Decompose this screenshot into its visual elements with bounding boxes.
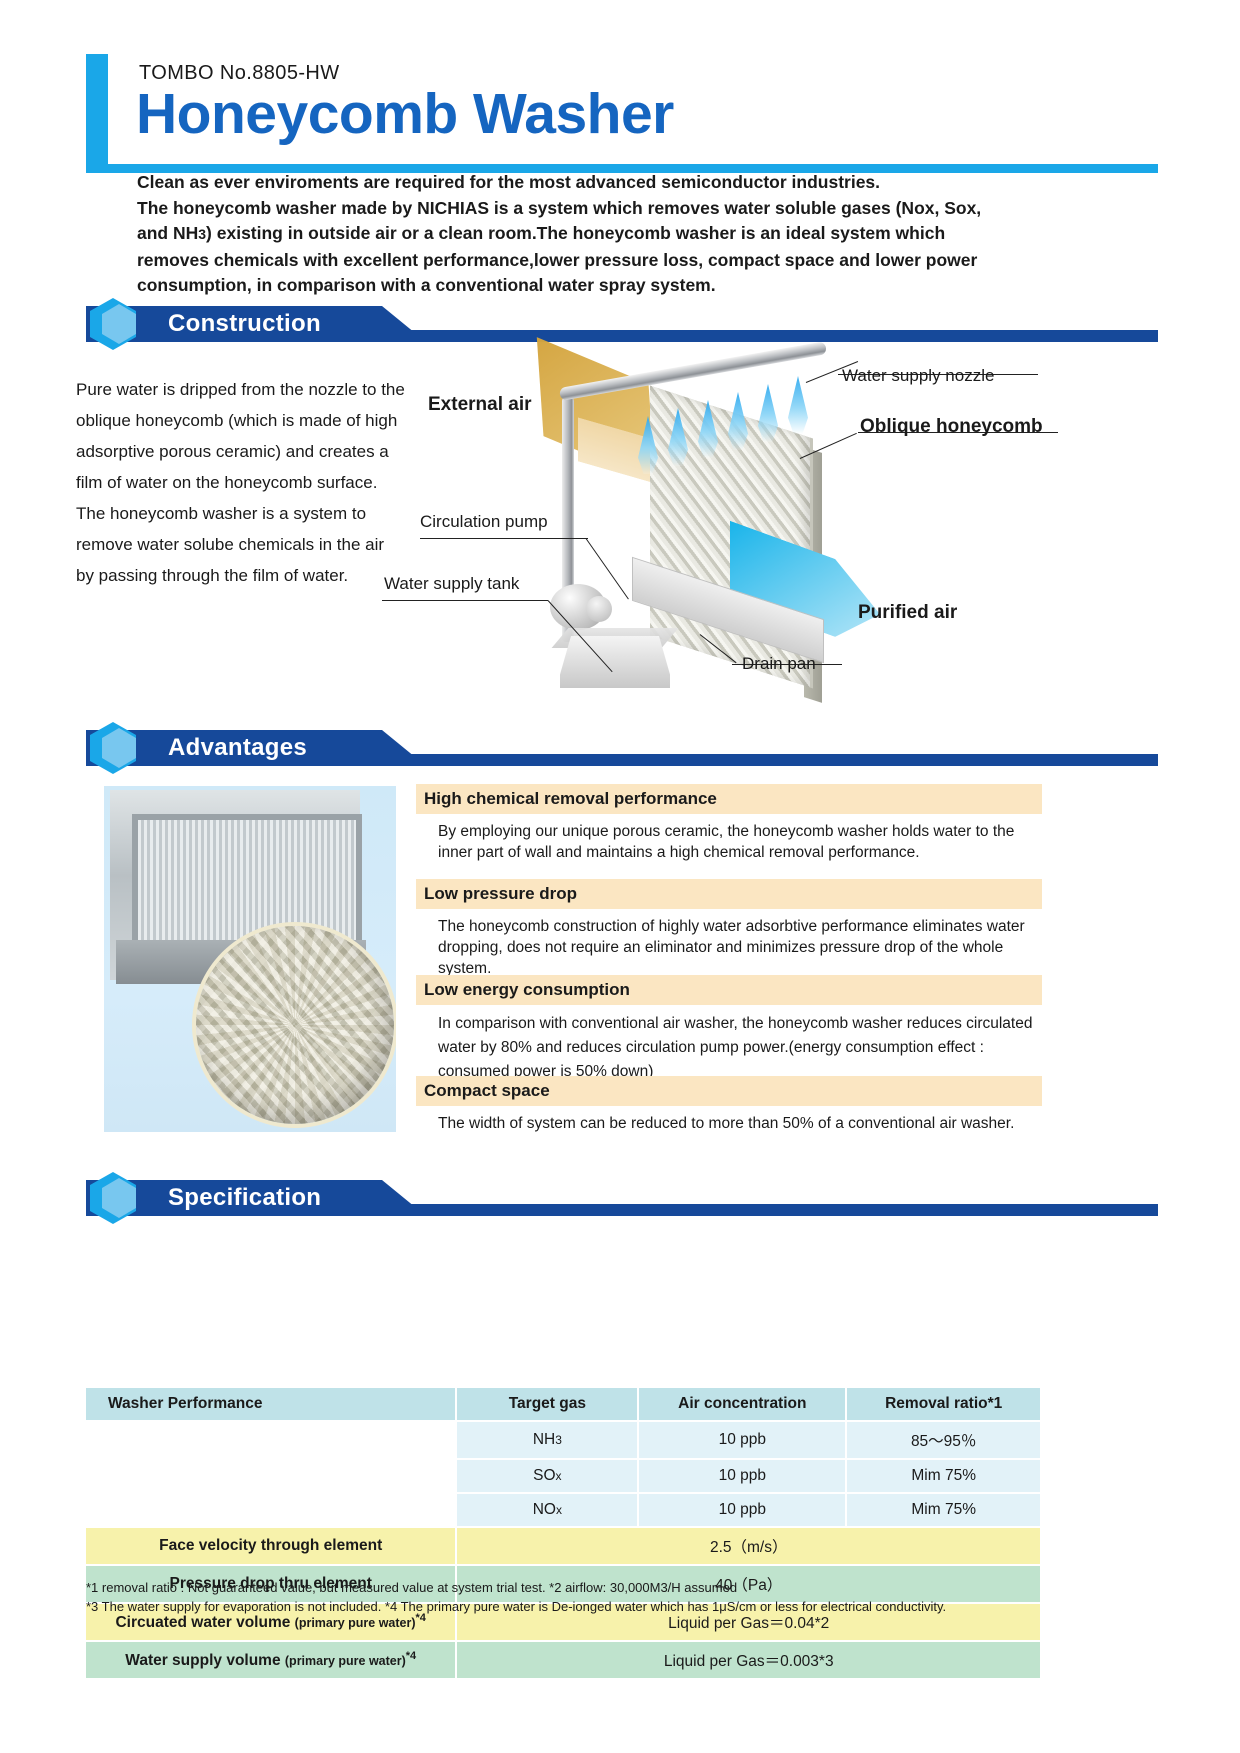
advantage-heading: Low energy consumption [416,975,1042,1005]
advantage-heading: Low pressure drop [416,879,1042,909]
param-value: Liquid per Gas＝0.003*3 [457,1642,1040,1678]
table-row: Face velocity through element 2.5（m/s） [86,1528,1040,1564]
spacer-cell [86,1422,455,1458]
cell-removal-ratio: Mim 75% [847,1460,1040,1492]
datasheet-page: TOMBO No.8805-HW Honeycomb Washer Clean … [0,0,1240,1753]
footnotes: *1 removal ratio : Not guaranteed value,… [86,1578,1146,1616]
gas-subscript: x [556,1469,562,1483]
page-title: Honeycomb Washer [136,86,674,143]
header-washer-performance: Washer Performance [86,1388,455,1420]
param-value: 2.5（m/s） [457,1528,1040,1564]
section-title-specification: Specification [168,1184,321,1212]
hexagon-icon [86,1172,140,1224]
gas-subscript: x [556,1503,562,1517]
intro-line-4: removes chemicals with excellent perform… [137,250,977,270]
intro-nh3-subscript: 3 [198,226,206,242]
label-oblique-honeycomb: Oblique honeycomb [860,416,1043,438]
section-title-advantages: Advantages [168,734,307,762]
banner-rule [396,754,1158,766]
gas-name: NH [533,1431,555,1448]
intro-line-1: Clean as ever enviroments are required f… [137,172,880,192]
water-supply-tank-shape [560,636,670,688]
advantages-photo [104,786,396,1132]
nozzle-spray-icon [758,384,778,442]
intro-line-3b: ) existing in outside air or a clean roo… [206,223,945,243]
header-air-concentration: Air concentration [639,1388,845,1420]
hexagon-icon [86,722,140,774]
label-drain-pan: Drain pan [742,654,816,674]
param-label-main: Water supply volume [125,1652,285,1669]
param-label-main: Circuated water volume [115,1614,294,1631]
param-label: Face velocity through element [86,1528,455,1564]
section-banner-advantages: Advantages [86,730,1158,766]
pump-motor-shape [586,596,612,622]
intro-line-2: The honeycomb washer made by NICHIAS is … [137,198,981,218]
cell-air-concentration: 10 ppb [639,1460,845,1492]
cell-air-concentration: 10 ppb [639,1422,845,1458]
intro-paragraph: Clean as ever enviroments are required f… [137,170,1047,299]
label-water-supply-nozzle: Water supply nozzle [842,366,994,386]
advantage-body: By employing our unique porous ceramic, … [416,814,1042,863]
label-water-supply-tank: Water supply tank [384,574,519,594]
advantage-item: Low pressure drop The honeycomb construc… [416,879,1042,979]
param-label: Water supply volume (primary pure water)… [86,1642,455,1678]
advantage-body: In comparison with conventional air wash… [416,1005,1042,1084]
param-label-note: (primary pure water) [285,1654,406,1668]
cell-target-gas: NOx [457,1494,637,1526]
advantage-item: Compact space The width of system can be… [416,1076,1042,1134]
gas-name: SO [533,1467,555,1484]
header-target-gas: Target gas [457,1388,637,1420]
table-row: Washer Performance Target gas Air concen… [86,1388,1040,1420]
header-accent-bar [86,54,108,164]
construction-body-text: Pure water is dripped from the nozzle to… [76,374,406,591]
section-banner-construction: Construction [86,306,1158,342]
spacer-cell [86,1460,455,1492]
section-title-construction: Construction [168,310,321,338]
cell-air-concentration: 10 ppb [639,1494,845,1526]
label-circulation-pump: Circulation pump [420,512,548,532]
spacer-cell [86,1494,455,1526]
photo-zoom-detail [196,926,394,1124]
banner-rule [396,1204,1158,1216]
intro-line-5: consumption, in comparison with a conven… [137,275,716,295]
cell-removal-ratio: 85～95％ [847,1422,1040,1458]
banner-rule [396,330,1158,342]
cell-target-gas: NH3 [457,1422,637,1458]
table-row: NH3 10 ppb 85～95％ [86,1422,1040,1458]
hexagon-icon [86,298,140,350]
advantage-body: The honeycomb construction of highly wat… [416,909,1042,979]
gas-subscript: 3 [555,1433,562,1447]
advantage-item: High chemical removal performance By emp… [416,784,1042,863]
construction-diagram: External air Water supply nozzle Oblique… [400,352,1060,732]
advantage-heading: High chemical removal performance [416,784,1042,814]
leader-line-tank [382,600,548,601]
table-row: Water supply volume (primary pure water)… [86,1642,1040,1678]
label-purified-air: Purified air [858,602,957,624]
gas-name: NO [533,1501,556,1518]
label-external-air: External air [428,394,532,416]
table-row: SOx 10 ppb Mim 75% [86,1460,1040,1492]
leader-line-pump [420,538,588,539]
advantage-body: The width of system can be reduced to mo… [416,1106,1042,1134]
specification-table: Washer Performance Target gas Air concen… [84,1386,1042,1680]
param-label-note: (primary pure water) [295,1616,416,1630]
table-row: NOx 10 ppb Mim 75% [86,1494,1040,1526]
cell-removal-ratio: Mim 75% [847,1494,1040,1526]
advantage-item: Low energy consumption In comparison wit… [416,975,1042,1084]
intro-line-3a: and NH [137,223,198,243]
nozzle-spray-icon [788,376,808,434]
footnote-line-2: *3 The water supply for evaporation is n… [86,1597,1146,1616]
cell-target-gas: SOx [457,1460,637,1492]
footnote-line-1: *1 removal ratio : Not guaranteed value,… [86,1578,1146,1597]
section-banner-specification: Specification [86,1180,1158,1216]
param-label-footnote-ref: *4 [406,1650,416,1662]
advantage-heading: Compact space [416,1076,1042,1106]
header-removal-ratio: Removal ratio*1 [847,1388,1040,1420]
